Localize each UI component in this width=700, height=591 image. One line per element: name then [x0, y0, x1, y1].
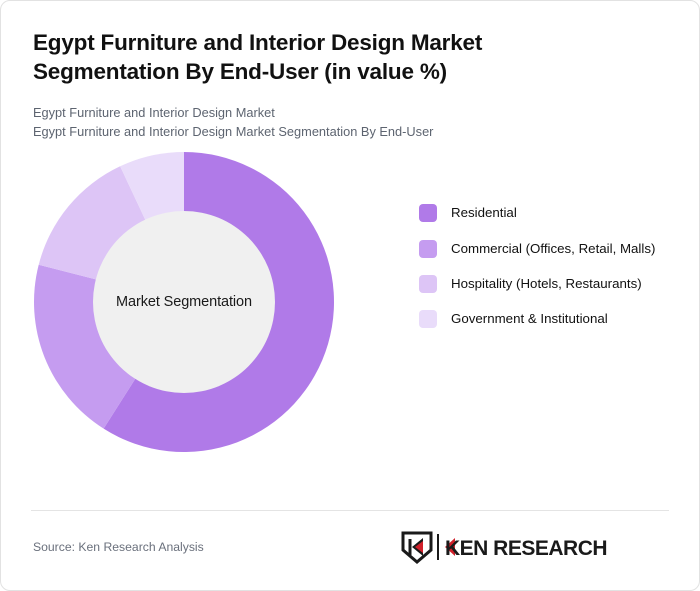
legend-swatch-icon [419, 240, 437, 258]
chart-legend: ResidentialCommercial (Offices, Retail, … [419, 203, 669, 344]
legend-item-label: Residential [451, 203, 517, 222]
subtitle-block: Egypt Furniture and Interior Design Mark… [33, 103, 667, 142]
ken-research-wordmark: KEN RESEARCH [437, 532, 669, 562]
legend-item[interactable]: Government & Institutional [419, 309, 669, 328]
subtitle-line-1: Egypt Furniture and Interior Design Mark… [33, 103, 667, 122]
donut-svg [33, 151, 335, 453]
brand-logo: KEN RESEARCH [399, 529, 669, 565]
chart-card: Egypt Furniture and Interior Design Mark… [0, 0, 700, 591]
legend-item-label: Government & Institutional [451, 309, 608, 328]
donut-hole [93, 211, 275, 393]
legend-swatch-icon [419, 310, 437, 328]
legend-item-label: Hospitality (Hotels, Restaurants) [451, 274, 642, 293]
legend-item[interactable]: Hospitality (Hotels, Restaurants) [419, 274, 669, 293]
footer-divider [31, 510, 669, 511]
source-text: Source: Ken Research Analysis [33, 540, 204, 554]
legend-item[interactable]: Commercial (Offices, Retail, Malls) [419, 239, 669, 258]
legend-swatch-icon [419, 204, 437, 222]
legend-swatch-icon [419, 275, 437, 293]
page-title: Egypt Furniture and Interior Design Mark… [33, 29, 593, 87]
legend-item-label: Commercial (Offices, Retail, Malls) [451, 239, 655, 258]
subtitle-line-2: Egypt Furniture and Interior Design Mark… [33, 122, 667, 141]
card-header: Egypt Furniture and Interior Design Mark… [1, 1, 699, 141]
card-footer: Source: Ken Research Analysis KEN RESEAR… [33, 529, 669, 565]
ken-research-shield-icon [399, 529, 435, 565]
legend-item[interactable]: Residential [419, 203, 669, 222]
svg-text:KEN RESEARCH: KEN RESEARCH [445, 537, 607, 560]
chart-body: Market Segmentation ResidentialCommercia… [1, 141, 699, 471]
donut-chart: Market Segmentation [33, 151, 335, 453]
